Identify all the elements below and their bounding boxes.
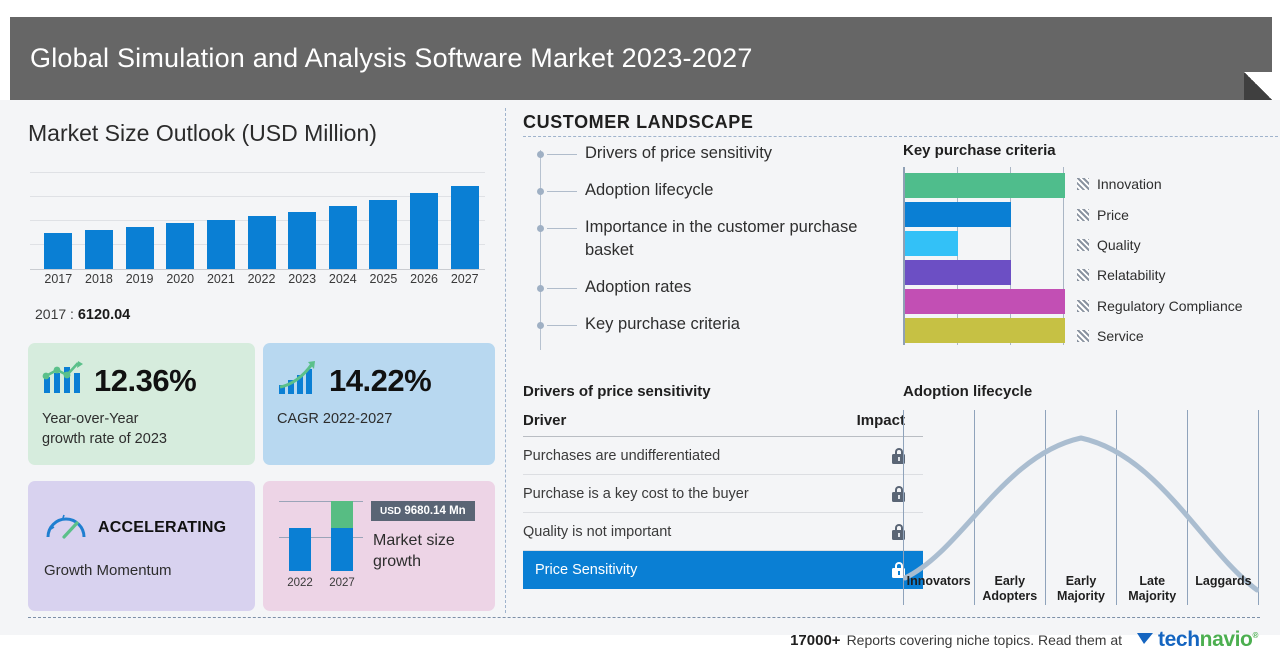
- bar-rect: [451, 186, 479, 270]
- adoption-lifecycle-chart: Adoption lifecycle InnovatorsEarlyAdopte…: [903, 383, 1265, 605]
- landscape-item-label: Importance in the customer purchase bask…: [585, 216, 905, 262]
- kpc-bar-price: [905, 202, 1011, 227]
- x-label: 2021: [201, 272, 242, 286]
- growth-x-2027: 2027: [329, 577, 355, 589]
- drivers-table-header: Driver Impact: [523, 412, 923, 437]
- kpc-bar-service: [905, 318, 1065, 343]
- x-label: 2018: [79, 272, 120, 286]
- yoy-label: Year-over-Year growth rate of 2023: [28, 402, 255, 449]
- logo-tech: tech: [1158, 628, 1200, 651]
- x-label: 2023: [282, 272, 323, 286]
- driver-name: Price Sensitivity: [535, 562, 637, 578]
- bullet-dot: [537, 225, 544, 232]
- legend-label: Quality: [1097, 237, 1141, 253]
- legend-swatch-icon: [1077, 300, 1089, 312]
- legend-label: Relatability: [1097, 267, 1165, 283]
- growth-label-line1: Market size: [373, 531, 455, 552]
- legend-swatch-icon: [1077, 209, 1089, 221]
- corner-fold-decoration: [1244, 72, 1272, 100]
- market-size-title: Market Size Outlook (USD Million): [28, 120, 377, 147]
- bar-rect: [166, 223, 194, 270]
- x-label: 2019: [119, 272, 160, 286]
- yoy-value: 12.36%: [94, 363, 196, 399]
- infographic-page: Global Simulation and Analysis Software …: [0, 0, 1280, 670]
- bullet-dot: [537, 322, 544, 329]
- bullet-dot: [537, 285, 544, 292]
- momentum-header: ACCELERATING: [28, 481, 255, 546]
- legend-label: Regulatory Compliance: [1097, 298, 1243, 314]
- bar-2025: [363, 172, 404, 270]
- x-label: 2026: [404, 272, 445, 286]
- legend-label: Service: [1097, 328, 1144, 344]
- bar-chart-x-labels: 2017201820192020202120222023202420252026…: [38, 272, 485, 286]
- bar-2019: [119, 172, 160, 270]
- drivers-table: Drivers of price sensitivity Driver Impa…: [523, 383, 923, 589]
- x-label: 2027: [444, 272, 485, 286]
- key-purchase-criteria-chart: Key purchase criteria InnovationPriceQua…: [903, 142, 1278, 351]
- rising-bars-icon: [277, 359, 319, 402]
- technavio-logo[interactable]: technavio®: [1136, 628, 1258, 652]
- bar-2027: [444, 172, 485, 270]
- kpc-bar-relatability: [905, 260, 1011, 285]
- left-column: Market Size Outlook (USD Million) 201720…: [0, 100, 505, 635]
- column-header-impact: Impact: [857, 412, 905, 429]
- growth-bar-2027: [331, 497, 353, 571]
- content-canvas: Market Size Outlook (USD Million) 201720…: [0, 100, 1280, 635]
- report-count: 17000+: [790, 632, 840, 649]
- landscape-item-label: Key purchase criteria: [585, 313, 740, 336]
- bar-rect: [288, 212, 316, 270]
- yoy-card-header: 12.36%: [28, 343, 255, 402]
- adoption-segment-labels: InnovatorsEarlyAdoptersEarlyMajorityLate…: [903, 574, 1259, 603]
- logo-navio: navio: [1200, 628, 1253, 651]
- bar-rect: [207, 220, 235, 270]
- x-label: 2020: [160, 272, 201, 286]
- x-label: 2017: [38, 272, 79, 286]
- cagr-value: 14.22%: [329, 363, 431, 399]
- landscape-item-1[interactable]: Drivers of price sensitivity: [535, 142, 905, 165]
- driver-name: Quality is not important: [523, 524, 671, 540]
- kpc-bar-innovation: [905, 173, 1065, 198]
- usd-amount: 9680.14 Mn: [404, 505, 465, 517]
- legend-label: Price: [1097, 207, 1129, 223]
- yoy-label-line2: growth rate of 2023: [42, 430, 255, 450]
- bar-rect: [248, 216, 276, 270]
- adoption-label: LateMajority: [1117, 574, 1188, 603]
- x-label: 2024: [322, 272, 363, 286]
- bar-rect: [410, 193, 438, 270]
- speedometer-icon: [44, 509, 88, 546]
- adoption-label: Laggards: [1188, 574, 1259, 603]
- kpc-bars: [905, 173, 1065, 347]
- adoption-label: EarlyAdopters: [974, 574, 1045, 603]
- kpc-bar-quality: [905, 231, 958, 256]
- connector-line: [547, 325, 577, 326]
- growth-momentum-card: ACCELERATING Growth Momentum: [28, 481, 255, 611]
- bar-rect: [85, 230, 113, 270]
- legend-swatch-icon: [1077, 330, 1089, 342]
- adoption-label: EarlyMajority: [1045, 574, 1116, 603]
- driver-name: Purchase is a key cost to the buyer: [523, 486, 749, 502]
- legend-swatch-icon: [1077, 239, 1089, 251]
- growth-mini-chart: 2022 2027: [275, 497, 367, 589]
- bullet-dot: [537, 151, 544, 158]
- legend-item-relatability: Relatability: [1077, 260, 1243, 290]
- cagr-label: CAGR 2022-2027: [263, 402, 495, 430]
- legend-item-regulatory-compliance: Regulatory Compliance: [1077, 291, 1243, 321]
- trademark-symbol: ®: [1253, 631, 1259, 640]
- bar-2024: [322, 172, 363, 270]
- cagr-card: 14.22% CAGR 2022-2027: [263, 343, 495, 465]
- x-label: 2025: [363, 272, 404, 286]
- bar-series: [38, 172, 485, 270]
- landscape-item-2[interactable]: Adoption lifecycle: [535, 179, 905, 202]
- growth-x-2022: 2022: [287, 577, 313, 589]
- market-size-growth-card: 2022 2027 USD 9680.14 Mn Market size gro…: [263, 481, 495, 611]
- arrow-icon: [1136, 629, 1158, 651]
- kpc-legend: InnovationPriceQualityRelatabilityRegula…: [1077, 167, 1243, 351]
- connector-line: [547, 154, 577, 155]
- growth-bars: [279, 497, 363, 571]
- title-underline: [523, 136, 1278, 137]
- x-label: 2022: [241, 272, 282, 286]
- customer-landscape-list: Drivers of price sensitivityAdoption lif…: [535, 142, 905, 351]
- landscape-item-5[interactable]: Key purchase criteria: [535, 313, 905, 336]
- bar-2017: [38, 172, 79, 270]
- kpc-title: Key purchase criteria: [903, 142, 1278, 159]
- bar-2018: [79, 172, 120, 270]
- landscape-item-label: Adoption rates: [585, 276, 691, 299]
- growth-bar-2022: [289, 497, 311, 571]
- adoption-label: Innovators: [903, 574, 974, 603]
- table-row[interactable]: Purchases are undifferentiated: [523, 437, 923, 475]
- legend-item-quality: Quality: [1077, 230, 1243, 260]
- landscape-item-label: Adoption lifecycle: [585, 179, 713, 202]
- connector-line: [547, 228, 577, 229]
- column-header-driver: Driver: [523, 412, 566, 429]
- bar-2023: [282, 172, 323, 270]
- momentum-value: ACCELERATING: [98, 519, 226, 537]
- driver-name: Purchases are undifferentiated: [523, 448, 720, 464]
- customer-landscape-title: CUSTOMER LANDSCAPE: [523, 112, 753, 133]
- bar-2022: [241, 172, 282, 270]
- growth-label: Market size growth: [373, 531, 455, 573]
- bar-2020: [160, 172, 201, 270]
- page-title: Global Simulation and Analysis Software …: [10, 43, 753, 74]
- landscape-item-3[interactable]: Importance in the customer purchase bask…: [535, 216, 905, 262]
- market-size-bar-chart: [30, 172, 485, 270]
- table-row[interactable]: Purchase is a key cost to the buyer: [523, 475, 923, 513]
- bar-growth-icon: [42, 359, 84, 402]
- table-row[interactable]: Quality is not important: [523, 513, 923, 551]
- usd-value-badge: USD 9680.14 Mn: [371, 501, 475, 521]
- yoy-label-line1: Year-over-Year: [42, 410, 255, 430]
- chart-annotation: 2017 : 6120.04: [35, 306, 130, 323]
- logo-text: technavio®: [1158, 628, 1258, 652]
- bar-rect: [329, 206, 357, 270]
- legend-swatch-icon: [1077, 178, 1089, 190]
- legend-label: Innovation: [1097, 176, 1162, 192]
- bar-2021: [201, 172, 242, 270]
- connector-line: [547, 288, 577, 289]
- adoption-title: Adoption lifecycle: [903, 383, 1265, 400]
- kpc-bar-regulatory-compliance: [905, 289, 1065, 314]
- drivers-title: Drivers of price sensitivity: [523, 383, 923, 400]
- usd-currency: USD: [380, 506, 401, 517]
- kpc-plot: [903, 167, 1063, 345]
- annotation-value: 6120.04: [78, 307, 130, 323]
- footer: 17000+ Reports covering niche topics. Re…: [0, 628, 1280, 652]
- bar-rect: [44, 233, 72, 270]
- bar-rect: [369, 200, 397, 270]
- growth-x-labels: 2022 2027: [279, 577, 363, 589]
- legend-item-service: Service: [1077, 321, 1243, 351]
- table-row-highlighted[interactable]: Price Sensitivity: [523, 551, 923, 589]
- legend-swatch-icon: [1077, 269, 1089, 281]
- yoy-card: 12.36% Year-over-Year growth rate of 202…: [28, 343, 255, 465]
- bullet-dot: [537, 188, 544, 195]
- axis-line: [30, 269, 485, 270]
- landscape-item-4[interactable]: Adoption rates: [535, 276, 905, 299]
- adoption-plot: InnovatorsEarlyAdoptersEarlyMajorityLate…: [903, 410, 1259, 605]
- footer-text: Reports covering niche topics. Read them…: [847, 632, 1122, 648]
- landscape-item-label: Drivers of price sensitivity: [585, 142, 772, 165]
- legend-item-innovation: Innovation: [1077, 169, 1243, 199]
- growth-label-line2: growth: [373, 552, 455, 573]
- legend-item-price: Price: [1077, 199, 1243, 229]
- bar-rect: [126, 227, 154, 270]
- cagr-card-header: 14.22%: [263, 343, 495, 402]
- annotation-year: 2017 :: [35, 306, 74, 322]
- footer-divider: [28, 617, 1260, 618]
- momentum-label: Growth Momentum: [28, 546, 255, 579]
- right-column: CUSTOMER LANDSCAPE Drivers of price sens…: [505, 100, 1280, 635]
- connector-line: [547, 191, 577, 192]
- kpc-body: InnovationPriceQualityRelatabilityRegula…: [903, 167, 1278, 351]
- header-bar: Global Simulation and Analysis Software …: [10, 17, 1272, 100]
- bar-2026: [404, 172, 445, 270]
